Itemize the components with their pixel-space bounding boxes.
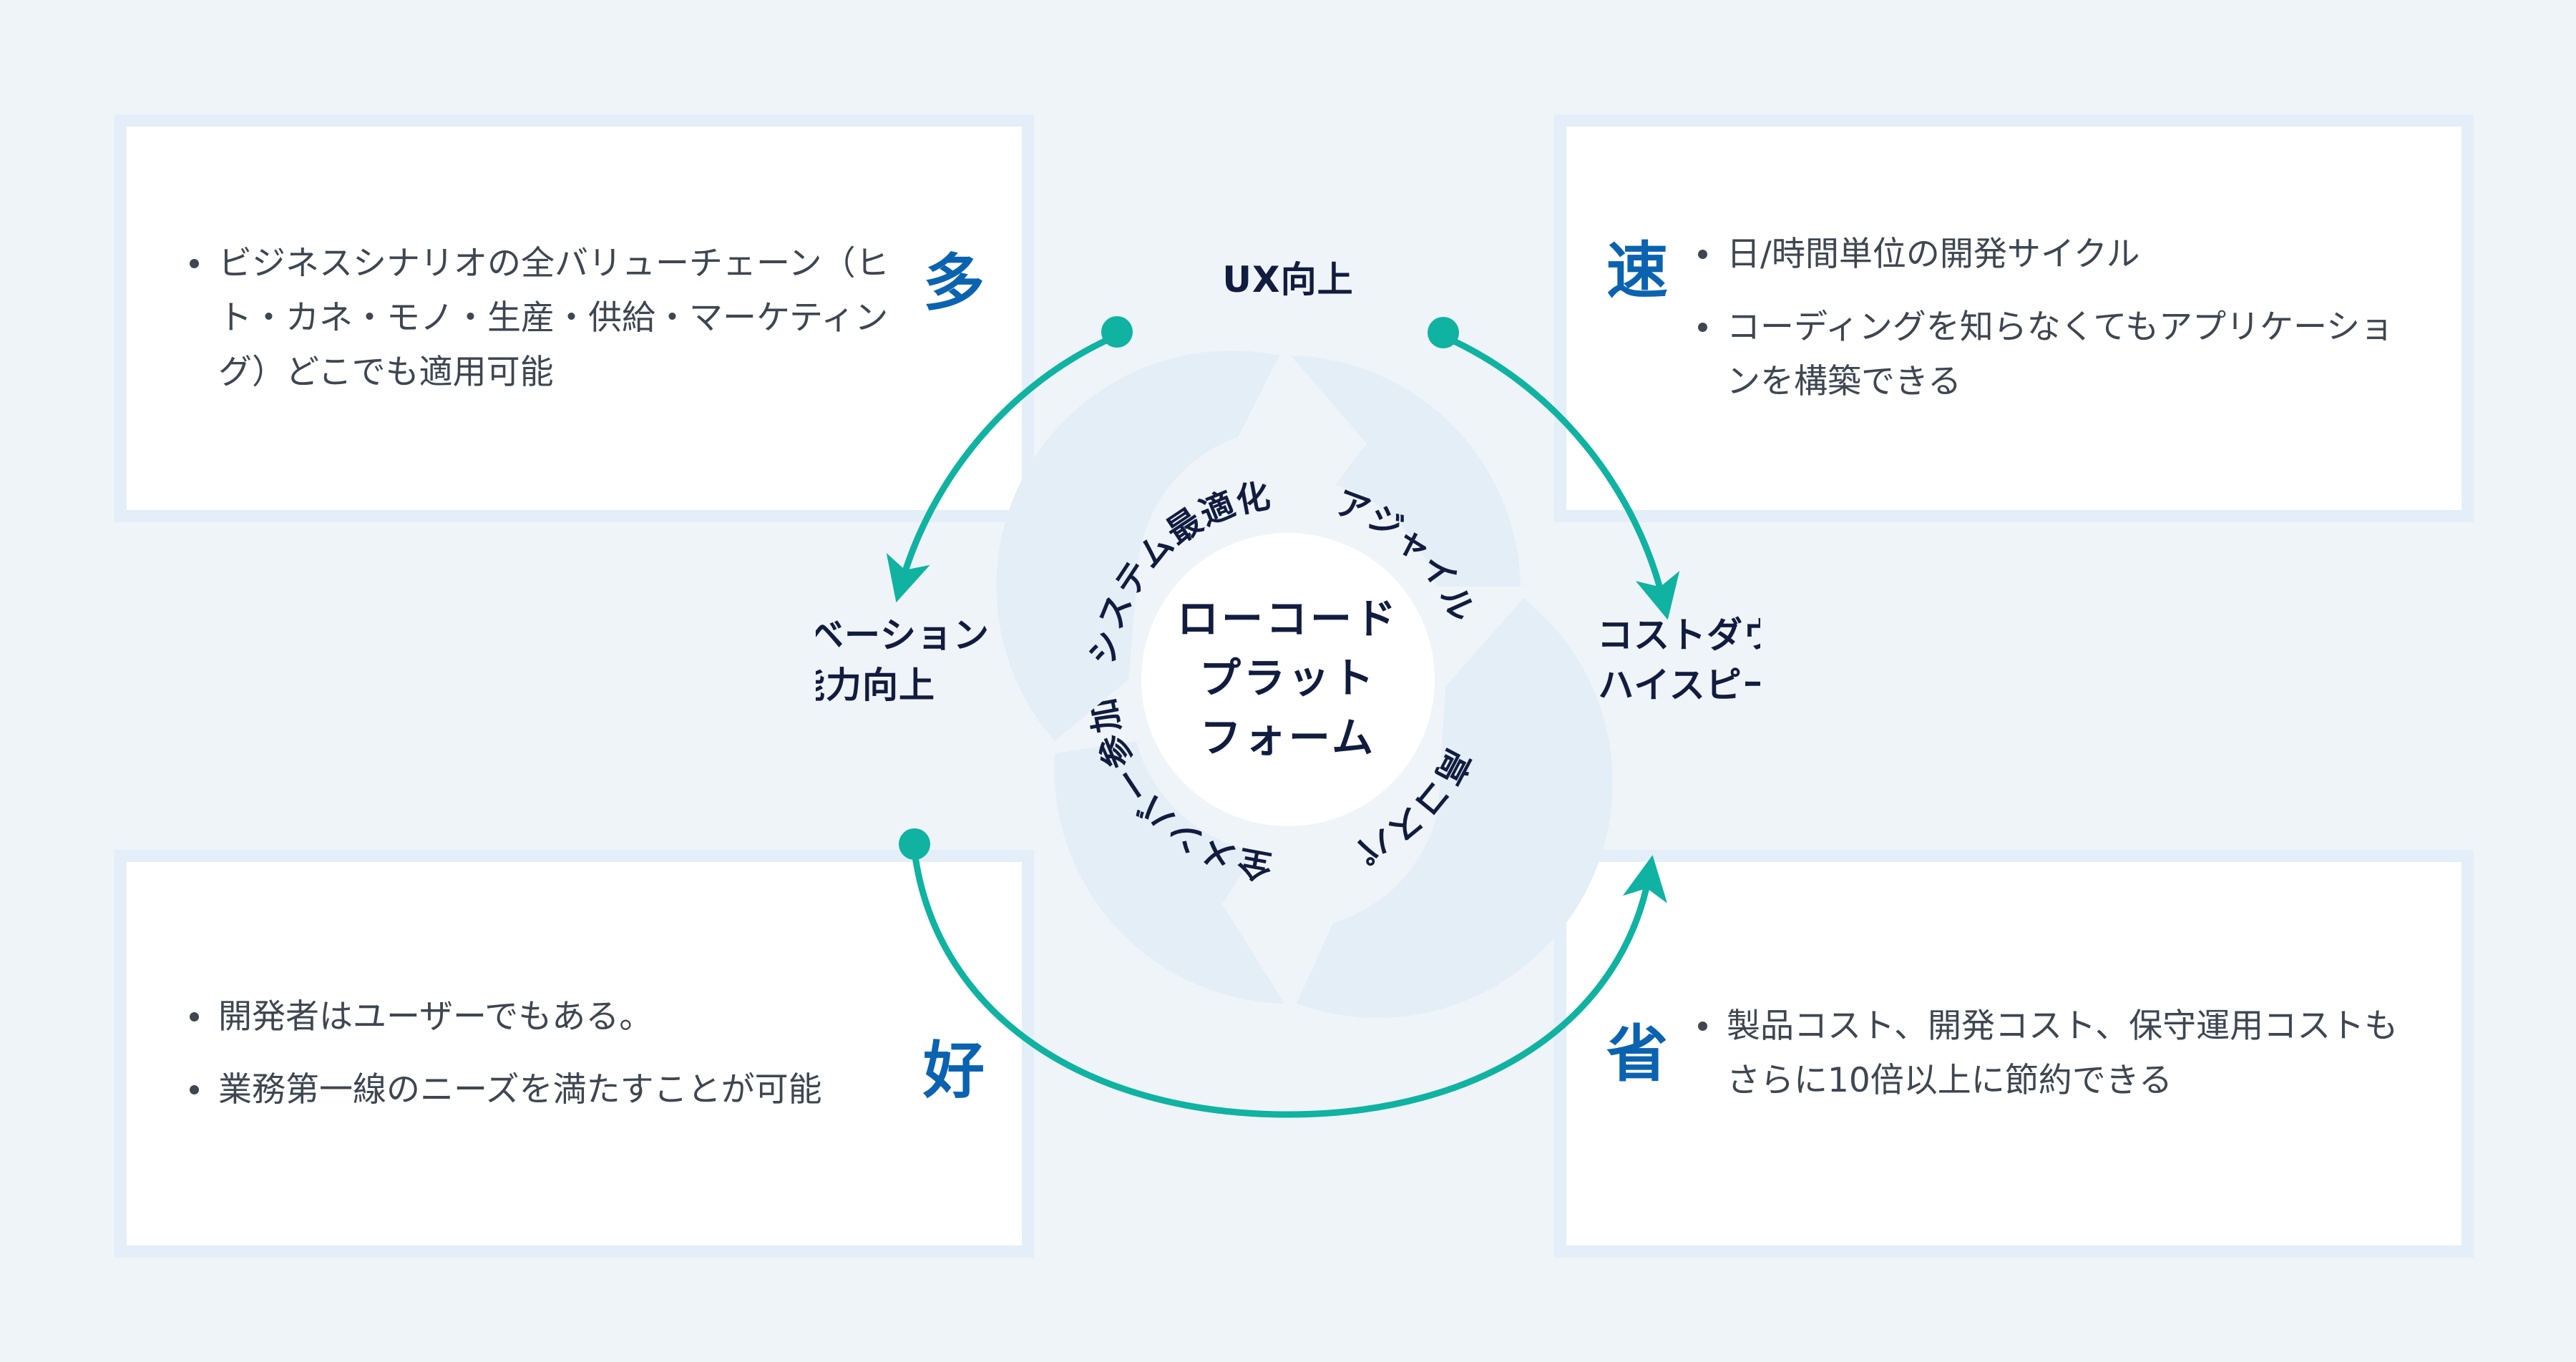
list-item: ビジネスシナリオの全バリューチェーン（ヒト・カネ・モノ・生産・供給・マーケティン… (184, 237, 909, 400)
bullet-dot-icon (190, 1085, 199, 1094)
center-label-group: ローコード プラット フォーム (1177, 594, 1399, 762)
arc-endpoint-dot (1101, 316, 1133, 348)
center-line-1: ローコード (1177, 594, 1399, 643)
bullet-dot-icon (190, 1012, 199, 1021)
outer-label-costdown-2: ハイスピード (1598, 665, 1760, 706)
cycle-diagram: アジャイル 高コスパ 全メンバー参加 (816, 236, 1760, 1127)
arc-endpoint-dot (1428, 317, 1459, 348)
list-item-text: コーディングを知らなくてもアプリケーションを構築できる (1727, 308, 2394, 401)
arc-endpoint-dot (899, 828, 930, 860)
info-card-bottom-left-bullets: 開発者はユーザーでもある。 業務第一線のニーズを満たすことが可能 (184, 990, 909, 1117)
list-item: 業務第一線のニーズを満たすことが可能 (184, 1063, 909, 1117)
list-item-text: 日/時間単位の開発サイクル (1727, 235, 2140, 274)
list-item-text: 開発者はユーザーでもある。 (218, 997, 653, 1037)
list-item: 開発者はユーザーでもある。 (184, 990, 909, 1044)
list-item-text: ビジネスシナリオの全バリューチェーン（ヒト・カネ・モノ・生産・供給・マーケティン… (218, 244, 889, 392)
outer-label-innovation-1: イノベーション (816, 614, 990, 656)
diagram-canvas: ビジネスシナリオの全バリューチェーン（ヒト・カネ・モノ・生産・供給・マーケティン… (0, 0, 2576, 1362)
list-item: 日/時間単位の開発サイクル (1692, 227, 2411, 282)
center-line-3: フォーム (1200, 713, 1376, 762)
list-item-text: 業務第一線のニーズを満たすことが可能 (218, 1070, 822, 1109)
info-card-top-left-bullets: ビジネスシナリオの全バリューチェーン（ヒト・カネ・モノ・生産・供給・マーケティン… (184, 237, 909, 400)
outer-label-costdown-1: コストダウン (1597, 614, 1760, 656)
list-item: コーディングを知らなくてもアプリケーションを構築できる (1692, 300, 2411, 409)
outer-label-innovation-2: 能力向上 (816, 665, 935, 706)
list-item: 製品コスト、開発コスト、保守運用コストもさらに10倍以上に節約できる (1692, 999, 2411, 1108)
center-line-2: プラット (1199, 654, 1377, 702)
list-item-text: 製品コスト、開発コスト、保守運用コストもさらに10倍以上に節約できる (1727, 1006, 2398, 1100)
bullet-dot-icon (190, 259, 199, 268)
info-card-bottom-right-bullets: 製品コスト、開発コスト、保守運用コストもさらに10倍以上に節約できる (1692, 999, 2411, 1108)
outer-label-ux: UX向上 (1222, 259, 1353, 300)
info-card-top-right-bullets: 日/時間単位の開発サイクル コーディングを知らなくてもアプリケーションを構築でき… (1692, 227, 2411, 409)
